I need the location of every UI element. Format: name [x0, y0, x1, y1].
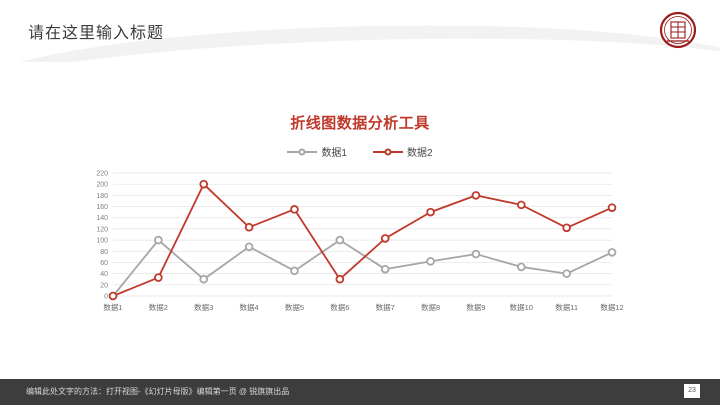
data-point-s1-12	[609, 249, 616, 256]
slide-header: 请在这里输入标题	[0, 0, 720, 62]
y-axis-tick-label: 0	[104, 294, 108, 301]
data-point-s2-8	[427, 209, 434, 216]
slide: 请在这里输入标题 折线图数据分析工具 数据1	[0, 0, 720, 405]
slide-footer: 编辑此处文字的方法：打开视图-《幻灯片母版》编辑第一页 @ 锐旗旗出品 23	[0, 379, 720, 405]
data-point-s2-5	[291, 206, 298, 213]
data-point-s1-6	[336, 237, 343, 244]
y-axis-tick-label: 200	[96, 182, 108, 189]
x-axis-tick-label: 数据11	[555, 302, 578, 312]
legend-item-series1[interactable]: 数据1	[287, 144, 347, 159]
data-point-s2-10	[518, 201, 525, 208]
x-axis-tick-label: 数据1	[103, 302, 122, 312]
y-axis-tick-label: 220	[96, 171, 108, 178]
y-axis-tick-label: 100	[96, 238, 108, 245]
data-point-s2-1	[110, 293, 117, 300]
chart-title: 折线图数据分析工具	[0, 112, 720, 133]
legend-marker-series2	[373, 151, 403, 153]
x-axis-tick-label: 数据8	[421, 302, 440, 312]
y-axis-tick-label: 180	[96, 193, 108, 200]
data-point-s1-8	[427, 258, 434, 265]
legend-label-series2: 数据2	[407, 144, 433, 159]
data-point-s1-10	[518, 264, 525, 271]
chart-plot-area: 020406080100120140160180200220数据1数据2数据3数…	[0, 165, 720, 360]
y-axis-tick-label: 140	[96, 215, 108, 222]
x-axis-tick-label: 数据7	[376, 302, 395, 312]
x-axis-tick-label: 数据12	[600, 302, 623, 312]
x-axis-tick-label: 数据4	[240, 302, 259, 312]
data-point-s2-4	[246, 224, 253, 231]
data-point-s2-2	[155, 274, 162, 281]
series-line-1	[113, 240, 612, 296]
x-axis-tick-label: 数据5	[285, 302, 304, 312]
x-axis-tick-label: 数据2	[149, 302, 168, 312]
data-point-s1-7	[382, 266, 389, 273]
legend-marker-series1	[287, 151, 317, 153]
chart-container: 折线图数据分析工具 数据1 数据2 0204060801001201401601…	[0, 70, 720, 360]
data-point-s2-11	[563, 224, 570, 231]
data-point-s2-7	[382, 235, 389, 242]
data-point-s2-12	[609, 204, 616, 211]
x-axis-tick-label: 数据3	[194, 302, 213, 312]
data-point-s1-3	[200, 276, 207, 283]
x-axis-tick-label: 数据9	[466, 302, 485, 312]
x-axis-tick-label: 数据6	[330, 302, 349, 312]
x-axis-tick-label: 数据10	[510, 302, 533, 312]
data-point-s2-6	[336, 276, 343, 283]
fu-seal-logo-icon	[656, 8, 700, 52]
data-point-s1-5	[291, 267, 298, 274]
data-point-s2-9	[473, 192, 480, 199]
y-axis-tick-label: 60	[100, 260, 108, 267]
chart-legend: 数据1 数据2	[0, 144, 720, 159]
y-axis-tick-label: 20	[100, 282, 108, 289]
y-axis-tick-label: 40	[100, 271, 108, 278]
page-title: 请在这里输入标题	[28, 19, 164, 43]
y-axis-tick-label: 80	[100, 249, 108, 256]
data-point-s1-2	[155, 237, 162, 244]
data-point-s1-4	[246, 243, 253, 250]
data-point-s1-9	[473, 251, 480, 258]
data-point-s2-3	[200, 181, 207, 188]
legend-label-series1: 数据1	[321, 144, 347, 159]
legend-item-series2[interactable]: 数据2	[373, 144, 433, 159]
footer-note: 编辑此处文字的方法：打开视图-《幻灯片母版》编辑第一页 @ 锐旗旗出品	[26, 386, 289, 397]
y-axis-tick-label: 160	[96, 204, 108, 211]
y-axis-tick-label: 120	[96, 226, 108, 233]
data-point-s1-11	[563, 270, 570, 277]
page-number-badge: 23	[684, 384, 700, 398]
